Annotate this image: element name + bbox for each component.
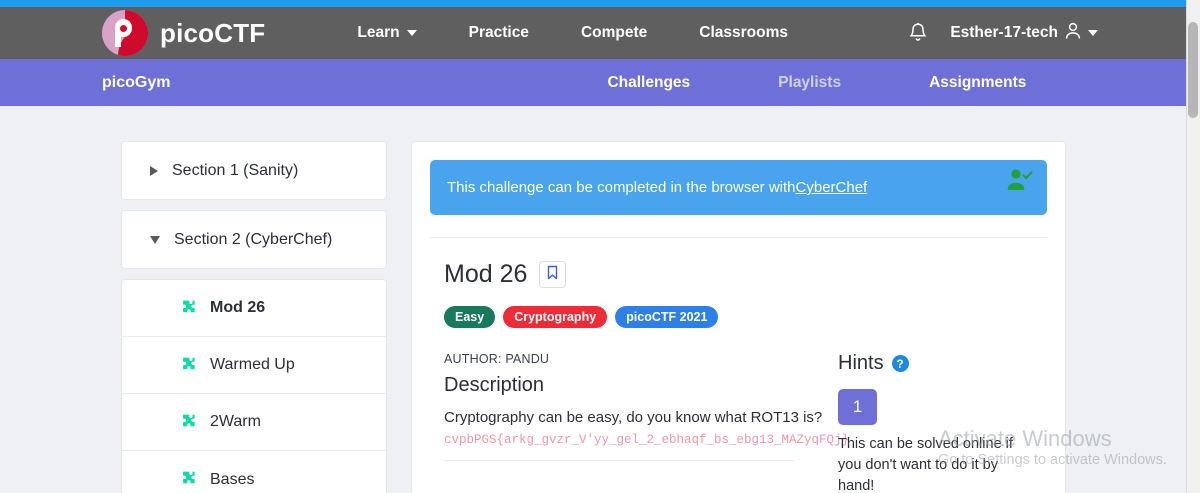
page-body: Section 1 (Sanity) Section 2 (CyberChef)… — [0, 106, 1186, 493]
tag-difficulty[interactable]: Easy — [444, 306, 495, 328]
sidebar-section-2-card: Section 2 (CyberChef) — [121, 210, 387, 269]
sidebar-section-2-label: Section 2 (CyberChef) — [174, 231, 332, 249]
hints-column: Hints ? 1 This can be solved online if y… — [826, 352, 1036, 493]
tab-playlists[interactable]: Playlists — [734, 74, 885, 92]
nav-item-compete-label: Compete — [581, 24, 647, 42]
sidebar-item-2warm-label: 2Warm — [210, 413, 261, 431]
chevron-down-icon — [407, 30, 417, 36]
nav-item-practice-label: Practice — [469, 24, 529, 42]
challenge-detail-card: This challenge can be completed in the b… — [411, 141, 1066, 493]
puzzle-piece-icon — [178, 413, 197, 432]
brand-name: picoCTF — [160, 18, 265, 49]
description-heading: Description — [444, 374, 826, 397]
sidebar-item-mod-26-label: Mod 26 — [210, 299, 265, 317]
main-nav: Learn Practice Compete Classrooms — [331, 24, 814, 42]
description-column: AUTHOR: PANDU Description Cryptography c… — [412, 352, 826, 493]
challenge-author: AUTHOR: PANDU — [444, 352, 826, 366]
challenge-sidebar: Section 1 (Sanity) Section 2 (CyberChef)… — [121, 141, 387, 493]
hint-text: This can be solved online if you don't w… — [838, 434, 1033, 493]
user-menu[interactable]: Esther-17-tech — [950, 22, 1098, 45]
sidebar-section-1-card: Section 1 (Sanity) — [121, 141, 387, 200]
tab-assignments[interactable]: Assignments — [885, 74, 1070, 92]
puzzle-piece-icon — [178, 356, 197, 375]
page-root: The Beginner's Guide to the picoGym 7 / … — [0, 0, 1200, 493]
page-title: Mod 26 — [444, 260, 527, 289]
page-scrollbar-thumb[interactable] — [1188, 22, 1198, 118]
nav-item-classrooms-label: Classrooms — [699, 24, 788, 42]
chevron-right-icon — [150, 166, 158, 176]
sidebar-item-warmed-up[interactable]: Warmed Up — [122, 337, 386, 394]
site-header: picoCTF Learn Practice Compete Classroom… — [0, 7, 1186, 59]
subnav-brand-picogym[interactable]: picoGym — [102, 74, 170, 92]
sidebar-item-2warm[interactable]: 2Warm — [122, 394, 386, 451]
puzzle-piece-icon — [178, 299, 197, 318]
sidebar-item-warmed-up-label: Warmed Up — [210, 356, 295, 374]
header-right-group: Esther-17-tech — [908, 7, 1098, 59]
sidebar-item-mod-26[interactable]: Mod 26 — [122, 280, 386, 337]
user-icon — [1065, 22, 1081, 45]
tag-event[interactable]: picoCTF 2021 — [615, 306, 718, 328]
top-accent-strip — [0, 0, 1186, 7]
brand-logo-link[interactable]: picoCTF — [102, 10, 265, 56]
challenge-tags: Easy Cryptography picoCTF 2021 — [444, 306, 1065, 328]
question-mark-icon[interactable]: ? — [892, 355, 909, 372]
challenge-title-row: Mod 26 — [444, 260, 1065, 289]
username-label: Esther-17-tech — [950, 24, 1058, 42]
sidebar-item-bases-label: Bases — [210, 471, 254, 489]
chevron-down-icon — [150, 236, 160, 244]
nav-item-learn[interactable]: Learn — [331, 24, 442, 42]
hint-number-button[interactable]: 1 — [838, 389, 877, 425]
cyberchef-link[interactable]: CyberChef — [796, 179, 868, 196]
description-divider — [444, 460, 794, 461]
hints-heading: Hints — [838, 352, 884, 375]
chevron-down-icon — [1088, 30, 1098, 36]
picoctf-logo — [102, 10, 148, 56]
cipher-text: cvpbPGS{arkg_gvzr_V'yy_gel_2_ebhaqf_bs_e… — [444, 433, 826, 447]
nav-item-learn-label: Learn — [357, 24, 399, 42]
bookmark-button[interactable] — [539, 261, 566, 288]
subnav-links: Challenges Playlists Assignments — [563, 74, 1070, 92]
sidebar-section-1-label: Section 1 (Sanity) — [172, 162, 298, 180]
sidebar-item-bases[interactable]: Bases — [122, 451, 386, 493]
description-text: Cryptography can be easy, do you know wh… — [444, 409, 826, 426]
bookmark-icon — [546, 265, 559, 285]
nav-item-classrooms[interactable]: Classrooms — [673, 24, 814, 42]
nav-item-compete[interactable]: Compete — [555, 24, 673, 42]
puzzle-piece-icon — [178, 470, 197, 489]
tag-category[interactable]: Cryptography — [503, 306, 607, 328]
challenge-content: AUTHOR: PANDU Description Cryptography c… — [412, 352, 1065, 493]
nav-item-practice[interactable]: Practice — [443, 24, 555, 42]
notification-bell-icon[interactable] — [908, 22, 928, 44]
tab-challenges[interactable]: Challenges — [563, 74, 734, 92]
sub-nav: picoGym Challenges Playlists Assignments — [0, 59, 1186, 106]
banner-divider — [430, 237, 1047, 238]
cyberchef-banner-text: This challenge can be completed in the b… — [447, 179, 796, 196]
sidebar-section-2-cyberchef[interactable]: Section 2 (CyberChef) — [122, 211, 386, 268]
solved-status-icon — [1005, 167, 1035, 193]
cyberchef-info-banner: This challenge can be completed in the b… — [430, 160, 1047, 215]
sidebar-challenge-list: Mod 26 Warmed Up 2Warm — [121, 279, 387, 493]
sidebar-section-1-sanity[interactable]: Section 1 (Sanity) — [122, 142, 386, 199]
hints-header: Hints ? — [838, 352, 1036, 375]
